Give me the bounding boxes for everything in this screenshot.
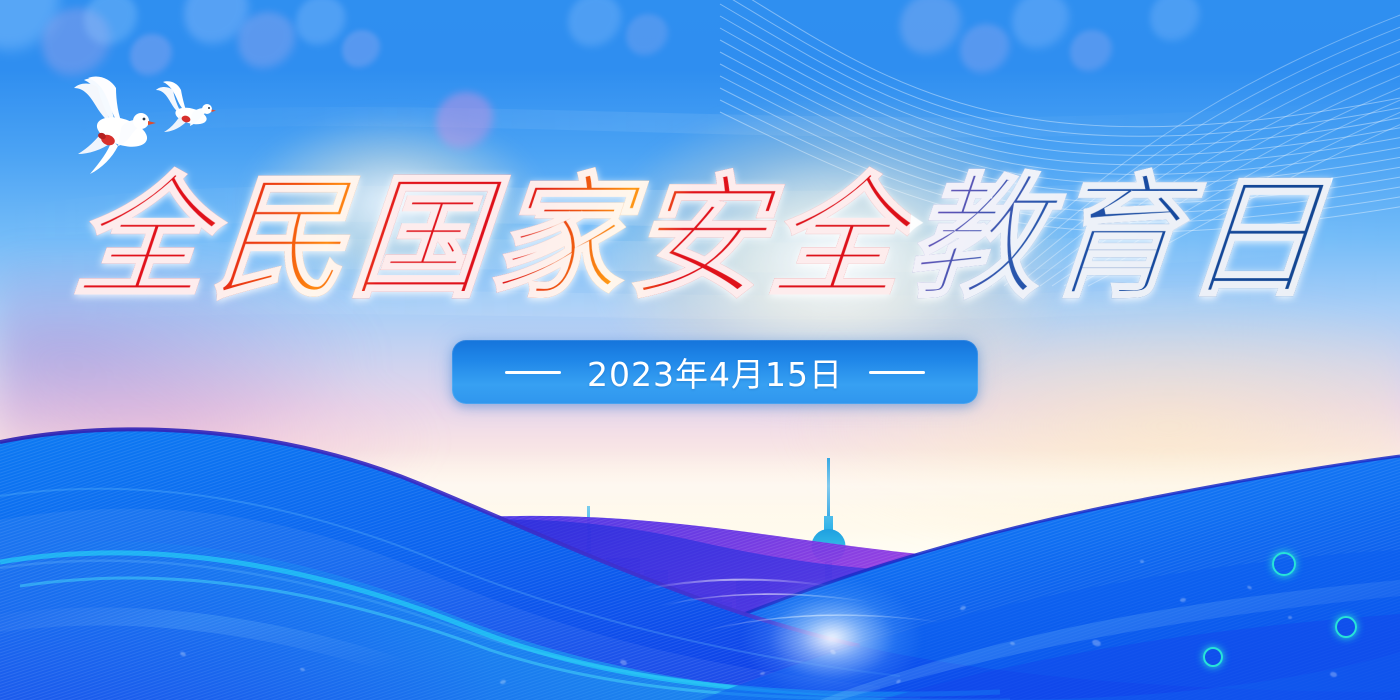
date-text: 2023年4月15日: [587, 348, 843, 396]
accent-ring: [1272, 552, 1296, 576]
bokeh-circle: [130, 34, 174, 78]
accent-ring: [1203, 647, 1223, 667]
bokeh-circle: [626, 14, 670, 58]
bokeh-circle: [436, 92, 496, 152]
light-speck: [1010, 642, 1015, 646]
bokeh-circle: [238, 12, 298, 72]
date-badge[interactable]: 2023年4月15日: [452, 340, 978, 404]
light-speck: [1288, 616, 1292, 619]
dove-icon-small: [155, 80, 225, 138]
poster-canvas: 全民国家安全教育日 2023年4月15日: [0, 0, 1400, 700]
decorative-line-waves: [680, 0, 1400, 290]
date-rule-right-icon: [869, 371, 925, 374]
date-rule-left-icon: [505, 371, 561, 374]
bottom-wave-graphic: [0, 400, 1400, 700]
light-speck: [1140, 560, 1144, 563]
sun-glow-left: [238, 112, 546, 294]
accent-ring: [1335, 616, 1357, 638]
bokeh-circle: [342, 30, 382, 70]
